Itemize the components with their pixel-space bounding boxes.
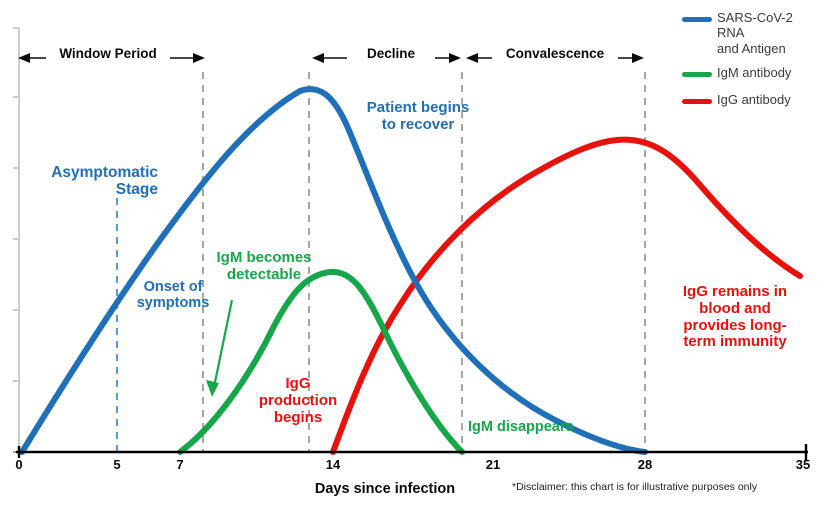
- phase-label-window-period: Window Period: [46, 46, 170, 61]
- annotation-igm-disappears: IgM disappears: [468, 419, 608, 435]
- phase-label-decline: Decline: [347, 46, 435, 61]
- annotation-onset-of-symptoms: Onset of symptoms: [118, 279, 228, 311]
- legend-label-igg: IgG antibody: [717, 92, 791, 107]
- x-tick-label-21: 21: [478, 457, 508, 472]
- legend-label-sars-rna: SARS-CoV-2 RNA and Antigen: [717, 10, 818, 56]
- chart-legend: SARS-CoV-2 RNA and Antigen IgM antibody …: [682, 10, 818, 117]
- chart-container: Window Period Decline Convalescence Asym…: [0, 0, 818, 517]
- legend-item-igm[interactable]: IgM antibody: [682, 65, 818, 80]
- x-tick-label-0: 0: [4, 457, 34, 472]
- x-tick-label-35: 35: [788, 457, 818, 472]
- legend-swatch-red: [682, 99, 712, 104]
- phase-label-convalescence: Convalescence: [492, 46, 618, 61]
- x-tick-label-14: 14: [318, 457, 348, 472]
- igm-detectable-arrow: [206, 300, 232, 397]
- annotation-patient-begins-to-recover: Patient begins to recover: [348, 100, 488, 134]
- chart-disclaimer: *Disclaimer: this chart is for illustrat…: [512, 481, 812, 493]
- annotation-asymptomatic-stage: Asymptomatic Stage: [6, 164, 158, 199]
- legend-item-igg[interactable]: IgG antibody: [682, 92, 818, 107]
- x-tick-label-5: 5: [102, 457, 132, 472]
- annotation-igg-production-begins: IgG production begins: [253, 376, 343, 426]
- legend-swatch-blue: [682, 17, 712, 22]
- x-axis-title: Days since infection: [270, 481, 500, 497]
- annotation-igm-becomes-detectable: IgM becomes detectable: [196, 250, 332, 284]
- x-tick-label-28: 28: [630, 457, 660, 472]
- legend-label-igm: IgM antibody: [717, 65, 791, 80]
- annotation-igg-remains-in-blood: IgG remains in blood and provides long- …: [655, 284, 815, 351]
- legend-item-sars-rna[interactable]: SARS-CoV-2 RNA and Antigen: [682, 10, 818, 56]
- legend-swatch-green: [682, 72, 712, 77]
- x-tick-label-7: 7: [165, 457, 195, 472]
